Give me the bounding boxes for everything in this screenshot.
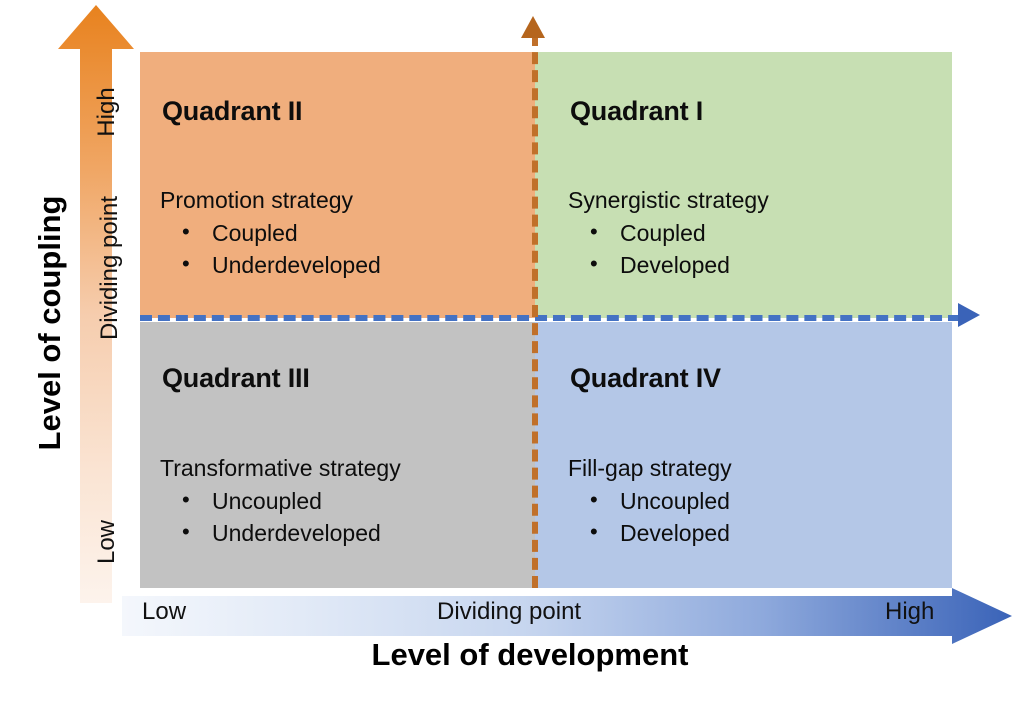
quadrant-2-bullet-list: Coupled Underdeveloped bbox=[160, 217, 381, 282]
quadrant-4-bullet-list: Uncoupled Developed bbox=[568, 485, 732, 550]
quadrant-2-strategy: Promotion strategy bbox=[160, 184, 381, 217]
y-axis-title: Level of coupling bbox=[32, 113, 68, 533]
quadrant-1-bullet-list: Coupled Developed bbox=[568, 217, 769, 282]
x-axis-tick-dividing-point: Dividing point bbox=[437, 598, 581, 626]
quadrant-4-bullet-1: Uncoupled bbox=[590, 485, 732, 518]
vertical-dividing-line bbox=[532, 34, 538, 588]
quadrant-4-bullet-2: Developed bbox=[590, 517, 732, 550]
quadrant-3-title: Quadrant III bbox=[162, 363, 310, 394]
quadrant-1-bullet-2: Developed bbox=[590, 249, 769, 282]
quadrant-3-bullet-1: Uncoupled bbox=[182, 485, 401, 518]
quadrant-3-strategy: Transformative strategy bbox=[160, 452, 401, 485]
quadrant-1-title: Quadrant I bbox=[570, 96, 703, 127]
quadrant-3-bullet-list: Uncoupled Underdeveloped bbox=[160, 485, 401, 550]
quadrant-2-body: Promotion strategy Coupled Underdevelope… bbox=[160, 184, 381, 282]
quadrant-1-body: Synergistic strategy Coupled Developed bbox=[568, 184, 769, 282]
quadrant-1-strategy: Synergistic strategy bbox=[568, 184, 769, 217]
horizontal-dividing-line bbox=[140, 315, 960, 321]
y-axis-tick-high: High bbox=[93, 67, 121, 157]
y-axis-tick-dividing-point: Dividing point bbox=[96, 183, 124, 353]
quadrant-3-bullet-2: Underdeveloped bbox=[182, 517, 401, 550]
y-axis-tick-low: Low bbox=[93, 497, 121, 587]
quadrant-4-body: Fill-gap strategy Uncoupled Developed bbox=[568, 452, 732, 550]
vertical-dividing-arrowhead-icon bbox=[521, 16, 545, 38]
quadrant-3-body: Transformative strategy Uncoupled Underd… bbox=[160, 452, 401, 550]
quadrant-4-title: Quadrant IV bbox=[570, 363, 721, 394]
quadrant-2-bullet-2: Underdeveloped bbox=[182, 249, 381, 282]
x-axis-title: Level of development bbox=[120, 637, 940, 673]
quadrant-4-strategy: Fill-gap strategy bbox=[568, 452, 732, 485]
horizontal-dividing-arrowhead-icon bbox=[958, 303, 980, 327]
x-axis-tick-high: High bbox=[885, 598, 934, 626]
quadrant-2-title: Quadrant II bbox=[162, 96, 302, 127]
quadrant-1-bullet-1: Coupled bbox=[590, 217, 769, 250]
quadrant-2-bullet-1: Coupled bbox=[182, 217, 381, 250]
x-axis-tick-low: Low bbox=[142, 598, 186, 626]
quadrant-diagram: Quadrant II Promotion strategy Coupled U… bbox=[0, 0, 1030, 705]
